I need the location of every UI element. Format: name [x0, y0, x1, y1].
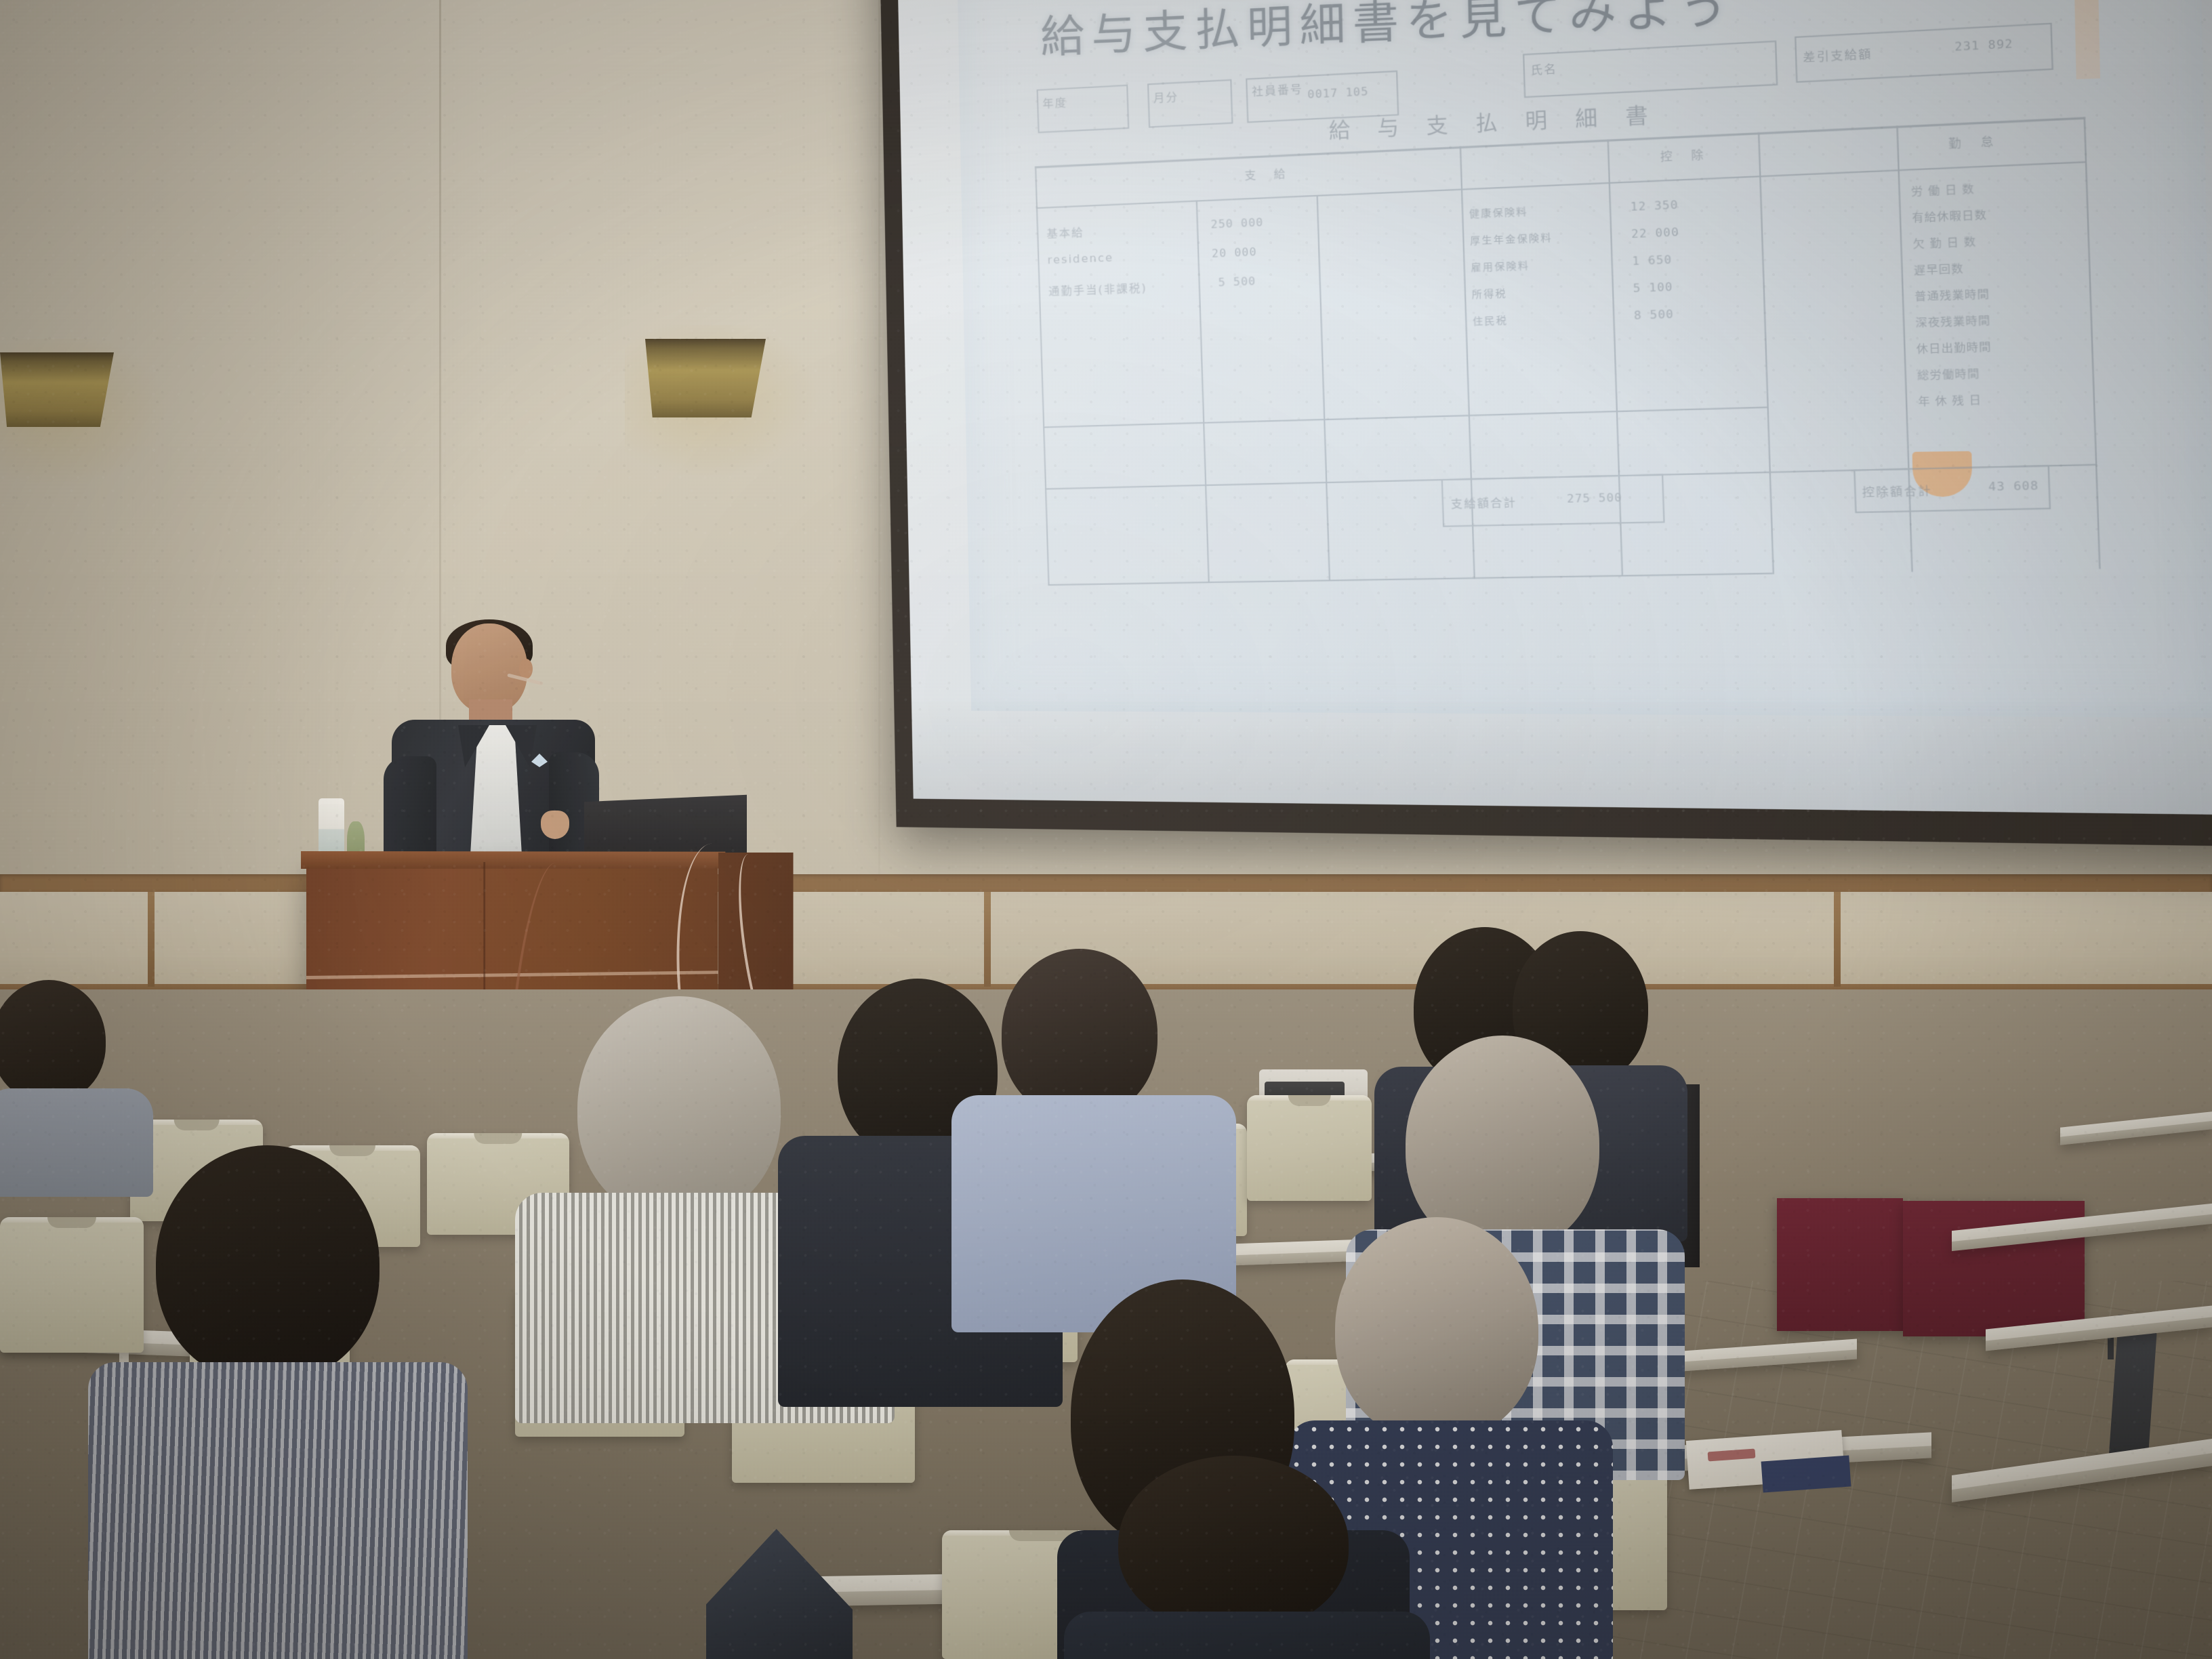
- chair-notch: [1288, 1095, 1331, 1106]
- red-stage-panel: [1777, 1198, 1903, 1331]
- payslip-col-rule: [1317, 195, 1330, 581]
- payslip-deduction-value: 1 650: [1632, 253, 1673, 268]
- audience-member: [88, 1145, 468, 1659]
- chair-notch: [174, 1120, 220, 1130]
- payslip-earning-value: 250 000: [1210, 216, 1263, 231]
- audience-head: [1002, 949, 1158, 1118]
- handout-blue-cover: [1761, 1456, 1851, 1493]
- payslip-header-label: 社員番号: [1252, 79, 1303, 99]
- audience-head: [0, 980, 106, 1102]
- podium-top-edge: [301, 851, 725, 869]
- audience-head: [577, 996, 781, 1220]
- sconce-plate: [0, 352, 114, 427]
- payslip-attendance-row: 年 休 残 日: [1918, 392, 1982, 409]
- payslip-deduction-label: 所得税: [1471, 286, 1507, 302]
- payslip-deductions-total-value: 43 608: [1988, 478, 2039, 493]
- payslip-attendance-row: 遅早回数: [1913, 260, 1964, 277]
- screen-surface: 給与支払明細書を見てみよう 給 与 支 払 明 細 書 年度 月分 社員番号 0…: [897, 0, 2212, 816]
- presenter-hand: [541, 811, 569, 839]
- payslip-col-rule: [1196, 201, 1210, 583]
- lecture-hall-photo: 給与支払明細書を見てみよう 給 与 支 払 明 細 書 年度 月分 社員番号 0…: [0, 0, 2212, 1659]
- wall-sconce-right: [645, 339, 766, 417]
- audience-torso: [88, 1362, 468, 1659]
- wall-sconce-left: [0, 352, 114, 427]
- payslip-deductions-total-label: 控除額合計: [1862, 481, 1932, 500]
- payslip-earning-label: residence: [1047, 251, 1113, 266]
- audience-head: [1118, 1456, 1349, 1632]
- payslip-deduction-value: 5 100: [1633, 280, 1673, 295]
- audience-member: [1064, 1456, 1430, 1659]
- payslip-earning-value: 20 000: [1212, 245, 1257, 260]
- audience-member: [951, 949, 1236, 1328]
- payslip-section-header: 控 除: [1660, 145, 1711, 165]
- payslip-section-header: 支 給: [1244, 164, 1292, 183]
- payslip-earning-label: 基本給: [1046, 223, 1084, 241]
- projected-slide: 給与支払明細書を見てみよう 給 与 支 払 明 細 書 年度 月分 社員番号 0…: [957, 0, 2212, 718]
- payslip-header-box: [1523, 41, 1778, 98]
- payslip-attendance-row: 総労働時間: [1917, 365, 1980, 382]
- payslip-form: 給 与 支 払 明 細 書 年度 月分 社員番号 0017 105 氏名 差引支…: [1033, 49, 2135, 639]
- payslip-earnings-total-value: 275 500: [1567, 491, 1622, 506]
- payslip-attendance-row: 深夜残業時間: [1915, 312, 1991, 330]
- payslip-earning-label: 通勤手当(非課税): [1048, 279, 1147, 299]
- payslip-col-rule: [1758, 132, 1774, 574]
- payslip-header-label: 年度: [1042, 94, 1067, 111]
- payslip-deduction-label: 厚生年金保険料: [1470, 230, 1553, 248]
- payslip-attendance-row: 普通残業時間: [1914, 286, 1990, 304]
- audience-torso: [1064, 1612, 1430, 1659]
- presenter: [380, 623, 610, 881]
- projection-screen: 給与支払明細書を見てみよう 給 与 支 払 明 細 書 年度 月分 社員番号 0…: [879, 0, 2212, 848]
- payslip-deduction-label: 住民税: [1473, 313, 1509, 329]
- payslip-deduction-value: 22 000: [1631, 225, 1679, 241]
- payslip-col-rule: [2084, 117, 2101, 569]
- payslip-attendance-row: 有給休暇日数: [1912, 207, 1988, 225]
- payslip-attendance-row: 休日出勤時間: [1916, 339, 1992, 356]
- payslip-deduction-value: 8 500: [1634, 307, 1675, 322]
- payslip-deduction-label: 雇用保険料: [1471, 258, 1530, 274]
- payslip-rule: [1048, 573, 1772, 586]
- payslip-deduction-value: 12 350: [1630, 198, 1678, 213]
- payslip-net-label: 差引支給額: [1803, 44, 1872, 65]
- audience-head: [156, 1145, 380, 1382]
- wainscot-divider: [1834, 892, 1841, 987]
- payslip-header-label: 月分: [1153, 87, 1179, 105]
- payslip-attendance-row: 欠 勤 日 数: [1912, 234, 1977, 251]
- sconce-plate: [645, 339, 766, 417]
- payslip-earnings-total-label: 支給額合計: [1450, 493, 1517, 511]
- payslip-attendance-row: 労 働 日 数: [1911, 181, 1975, 199]
- podium-trim-line: [306, 970, 718, 979]
- payslip-rule: [1043, 407, 1767, 428]
- wall-seam: [878, 0, 880, 1003]
- wainscot-divider: [148, 892, 155, 987]
- payslip-deduction-label: 健康保険料: [1469, 204, 1528, 221]
- payslip-earning-value: 5 500: [1218, 274, 1256, 289]
- payslip-section-header: 勤 怠: [1948, 131, 2002, 151]
- payslip-header-label: 氏名: [1530, 59, 1557, 77]
